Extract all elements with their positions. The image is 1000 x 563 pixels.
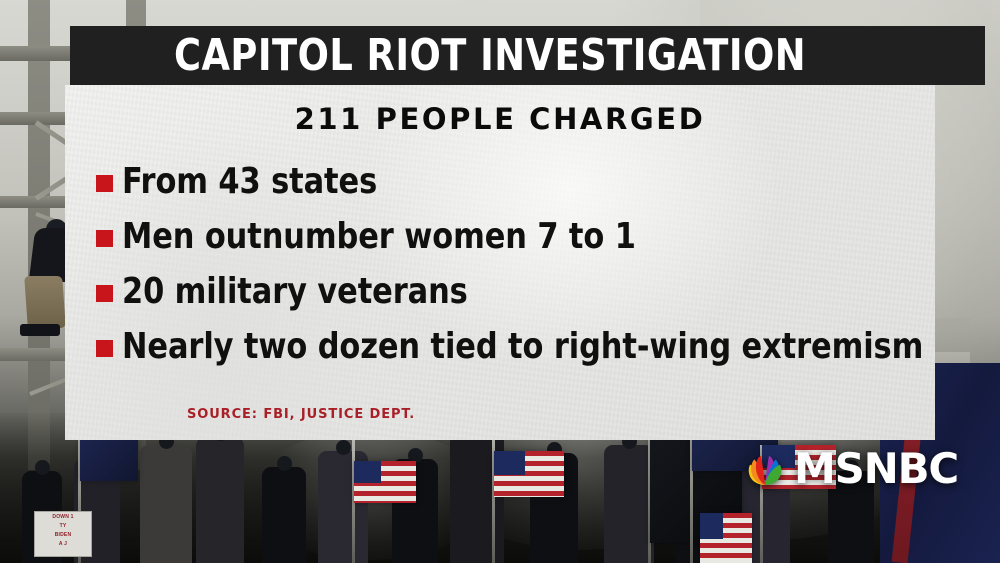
list-item-label: 20 military veterans — [122, 274, 468, 310]
red-square-bullet-icon — [96, 340, 113, 357]
msnbc-logo: MSNBC — [743, 448, 958, 490]
red-square-bullet-icon — [96, 285, 113, 302]
list-item: From 43 states — [96, 154, 935, 209]
us-flag — [700, 513, 752, 563]
broadcast-graphic-frame: DOWN 1 TY BIDEN A J CAPITOL RIOT INVESTI… — [0, 0, 1000, 563]
list-item-label: From 43 states — [122, 164, 377, 200]
list-item: Nearly two dozen tied to right-wing extr… — [96, 319, 935, 374]
list-item-label: Nearly two dozen tied to right-wing extr… — [122, 329, 923, 365]
list-item: 20 military veterans — [96, 264, 935, 319]
us-flag — [354, 461, 416, 503]
placard-line-2: TY — [35, 521, 91, 530]
campaign-flag — [80, 435, 138, 481]
title-banner: CAPITOL RIOT INVESTIGATION — [70, 26, 985, 85]
red-square-bullet-icon — [96, 175, 113, 192]
red-square-bullet-icon — [96, 230, 113, 247]
nbc-peacock-icon — [743, 448, 787, 490]
info-card: 211 PEOPLE CHARGED From 43 states Men ou… — [65, 85, 935, 440]
bullet-list: From 43 states Men outnumber women 7 to … — [96, 154, 935, 374]
placard-line-1: DOWN 1 — [35, 512, 91, 521]
protest-placard: DOWN 1 TY BIDEN A J — [34, 511, 92, 557]
us-flag — [494, 451, 564, 497]
headline: 211 PEOPLE CHARGED — [65, 102, 935, 136]
source-attribution: SOURCE: FBI, JUSTICE DEPT. — [187, 407, 415, 422]
placard-line-4: A J — [35, 539, 91, 548]
placard-line-3: BIDEN — [35, 530, 91, 539]
msnbc-wordmark: MSNBC — [794, 448, 958, 490]
list-item: Men outnumber women 7 to 1 — [96, 209, 935, 264]
banner-title: CAPITOL RIOT INVESTIGATION — [174, 34, 806, 78]
list-item-label: Men outnumber women 7 to 1 — [122, 219, 636, 255]
